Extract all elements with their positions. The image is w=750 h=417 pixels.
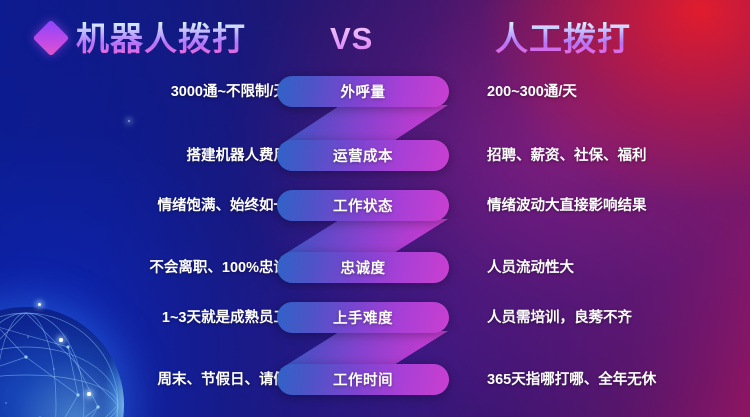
metric-label-1: 运营成本 xyxy=(333,145,393,166)
left-value-5: 周末、节假日、请假 xyxy=(158,373,289,388)
metric-pill-1[interactable]: 运营成本 xyxy=(277,140,449,171)
metric-pill-0[interactable]: 外呼量 xyxy=(277,76,449,107)
left-value-4: 1~3天就是成熟员工 xyxy=(162,311,288,326)
left-value-2: 情绪饱满、始终如一 xyxy=(158,199,289,214)
header-vs: VS xyxy=(330,14,373,62)
left-value-1: 搭建机器人费用 xyxy=(187,149,289,164)
right-value-3: 人员流动性大 xyxy=(487,261,574,276)
metric-pill-2[interactable]: 工作状态 xyxy=(277,190,449,221)
right-value-5: 365天指哪打哪、全年无休 xyxy=(487,373,656,388)
metric-label-3: 忠诚度 xyxy=(341,257,386,278)
right-value-0: 200~300通/天 xyxy=(487,85,577,100)
metric-label-5: 工作时间 xyxy=(333,369,393,390)
right-value-4: 人员需培训，良莠不齐 xyxy=(487,311,632,326)
metric-label-0: 外呼量 xyxy=(341,81,386,102)
left-column: 3000通~不限制/天 搭建机器人费用 情绪饱满、始终如一 不会离职、100%忠… xyxy=(60,0,288,417)
spark-1-icon xyxy=(38,303,41,306)
left-value-0: 3000通~不限制/天 xyxy=(171,85,288,100)
left-value-3: 不会离职、100%忠诚 xyxy=(149,261,288,276)
comparison-infographic: 机器人拨打 VS 人工拨打 3000通~不限制/天 搭建机器人费用 情绪饱满、始… xyxy=(0,0,750,417)
metric-pill-3[interactable]: 忠诚度 xyxy=(277,252,449,283)
right-value-2: 情绪波动大直接影响结果 xyxy=(487,199,647,214)
metric-label-4: 上手难度 xyxy=(333,307,393,328)
metric-pill-4[interactable]: 上手难度 xyxy=(277,302,449,333)
metric-label-2: 工作状态 xyxy=(333,195,393,216)
right-column: 200~300通/天 招聘、薪资、社保、福利 情绪波动大直接影响结果 人员流动性… xyxy=(487,0,747,417)
metric-pill-5[interactable]: 工作时间 xyxy=(277,364,449,395)
connector-0 xyxy=(280,105,448,145)
right-value-1: 招聘、薪资、社保、福利 xyxy=(487,149,647,164)
vs-label: VS xyxy=(330,23,373,54)
